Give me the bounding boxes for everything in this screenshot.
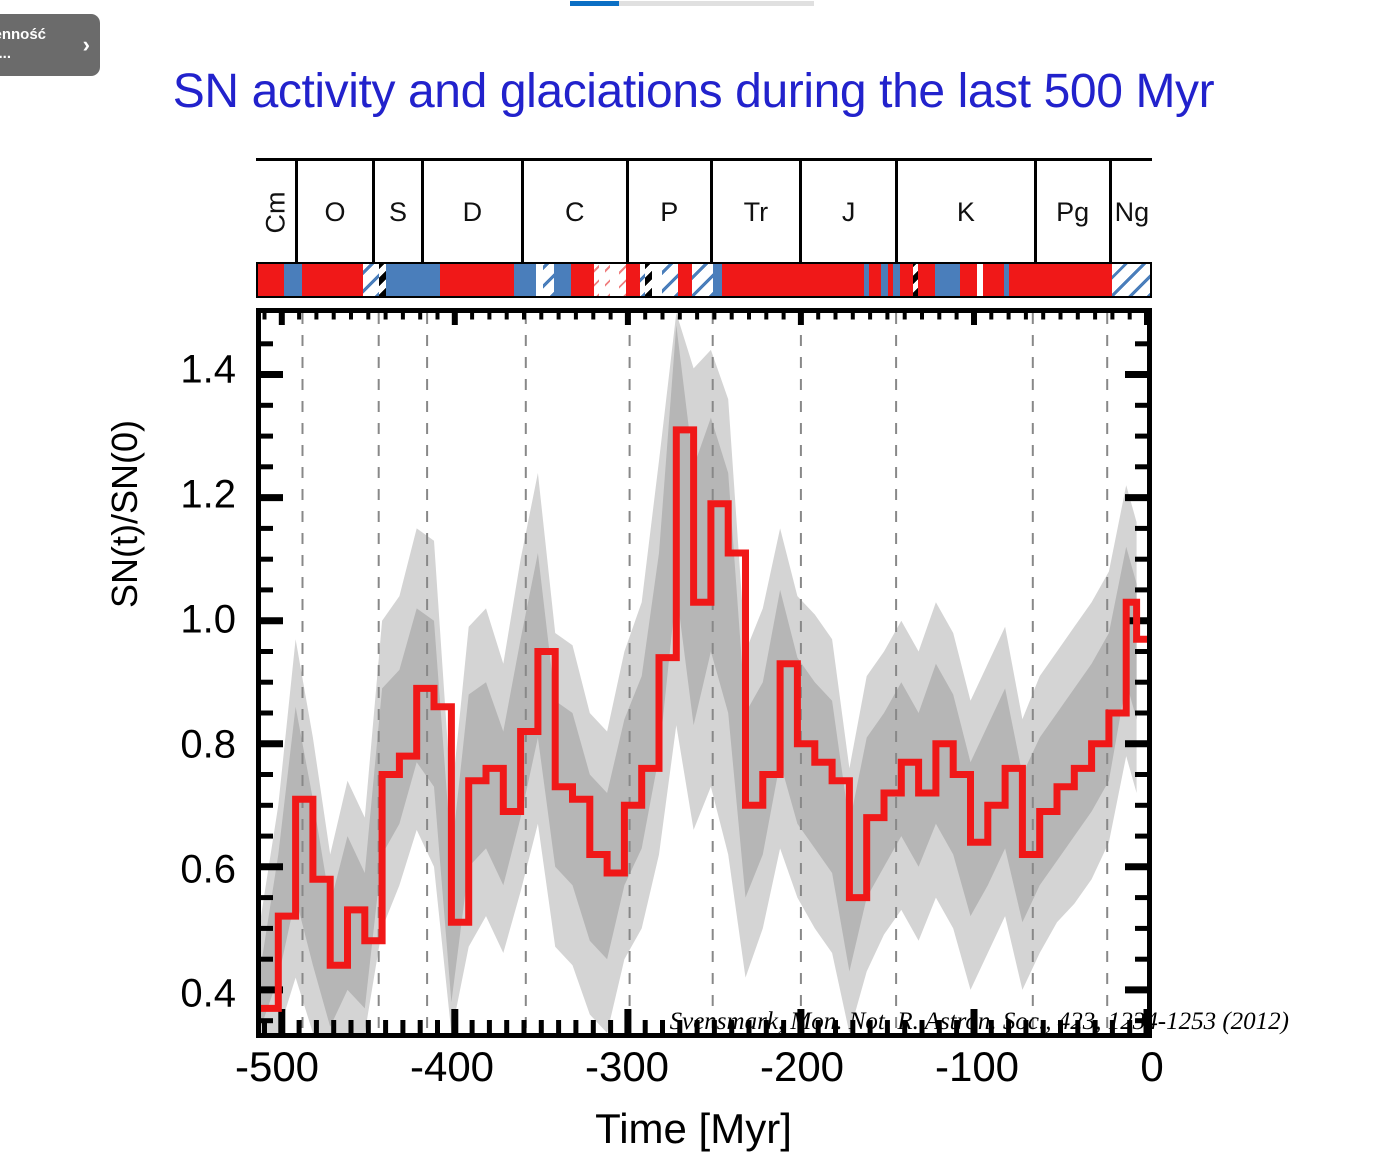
climate-segment-blue <box>284 264 302 296</box>
page-progress-bar[interactable] <box>570 1 814 6</box>
period-label: Pg <box>1056 197 1089 228</box>
period-label: S <box>389 197 407 228</box>
period-cell-pg: Pg <box>1037 161 1112 264</box>
climate-segment-blue <box>893 264 900 296</box>
climate-segment-red <box>678 264 692 296</box>
climate-segment-white <box>536 264 543 296</box>
climate-segment-red <box>900 264 912 296</box>
climate-segment-red <box>440 264 514 296</box>
period-cell-k: K <box>898 161 1036 264</box>
climate-segment-red <box>571 264 594 296</box>
figure-citation: Svensmark, Mon. Not. R. Astron. Soc., 42… <box>670 1008 1289 1036</box>
period-label: Tr <box>744 197 768 228</box>
x-tick-label: -400 <box>410 1043 494 1091</box>
y-tick-label: 1.0 <box>180 597 236 642</box>
period-label: C <box>565 197 585 228</box>
geologic-period-strip: CmOSDCPTrJKPgNg <box>256 158 1152 261</box>
y-axis-title: SN(t)/SN(0) <box>104 420 146 608</box>
climate-segment-hatch-black <box>1151 264 1153 296</box>
y-tick-label: 0.4 <box>180 972 236 1017</box>
figure-sn-activity-glaciations: CmOSDCPTrJKPgNg 0.40.60.81.01.21.4 -500-… <box>0 150 1387 1020</box>
climate-segment-hatch-blue <box>692 264 713 296</box>
climate-segment-hatch-red <box>619 264 626 296</box>
period-label: K <box>957 197 975 228</box>
x-tick-label: 0 <box>1140 1043 1163 1091</box>
climate-segment-hatch-blue <box>1112 264 1151 296</box>
nav-tooltip-line1: mienność <box>0 26 77 45</box>
x-tick-label: -300 <box>585 1043 669 1091</box>
period-cell-d: D <box>424 161 524 264</box>
x-tick-label: -100 <box>935 1043 1019 1091</box>
period-label: P <box>660 197 678 228</box>
climate-segment-white <box>652 264 663 296</box>
climate-segment-red <box>869 264 881 296</box>
climate-segment-red <box>722 264 864 296</box>
page-title: SN activity and glaciations during the l… <box>0 64 1387 119</box>
climate-segment-blue <box>935 264 960 296</box>
period-cell-c: C <box>524 161 629 264</box>
climate-segment-hatch-black <box>645 264 652 296</box>
period-label: O <box>324 197 345 228</box>
climate-segment-blue <box>713 264 722 296</box>
y-tick-label: 0.8 <box>180 722 236 767</box>
period-cell-tr: Tr <box>713 161 802 264</box>
nav-tooltip-text: mienność ry i... <box>0 26 77 64</box>
climate-segment-red <box>983 264 1004 296</box>
period-label: J <box>842 197 856 228</box>
period-cell-j: J <box>802 161 898 264</box>
climate-segment-blue <box>554 264 572 296</box>
climate-segment-white <box>610 264 619 296</box>
period-label: Ng <box>1115 197 1150 228</box>
climate-segment-blue <box>881 264 888 296</box>
x-axis-title: Time [Myr] <box>0 1105 1387 1153</box>
climate-segment-blue <box>514 264 537 296</box>
y-tick-label: 1.2 <box>180 473 236 518</box>
climate-segment-red <box>918 264 936 296</box>
x-tick-label: -200 <box>760 1043 844 1091</box>
page-progress-fill <box>570 1 619 6</box>
x-axis-tick-labels: -500-400-300-200-1000 <box>0 1043 1387 1103</box>
climate-segment-red <box>960 264 978 296</box>
period-label: D <box>463 197 483 228</box>
climate-segment-hatch-black <box>379 264 386 296</box>
period-cell-cm: Cm <box>256 161 298 264</box>
y-tick-label: 1.4 <box>180 348 236 393</box>
period-cell-ng: Ng <box>1112 161 1152 264</box>
period-label: Cm <box>260 192 291 234</box>
nav-tooltip-line2: ry i... <box>0 45 77 64</box>
period-cell-o: O <box>298 161 375 264</box>
plot-svg <box>261 313 1147 1033</box>
climate-segment-red <box>626 264 640 296</box>
period-cell-s: S <box>375 161 424 264</box>
climate-polarity-bar <box>256 262 1152 298</box>
y-tick-label: 0.6 <box>180 847 236 892</box>
x-tick-label: -500 <box>235 1043 319 1091</box>
climate-segment-blue <box>386 264 440 296</box>
chevron-right-icon[interactable]: › <box>77 32 90 58</box>
y-axis-tick-labels: 0.40.60.81.01.21.4 <box>0 308 250 1038</box>
climate-segment-hatch-blue <box>543 264 554 296</box>
climate-segment-red <box>302 264 363 296</box>
climate-segment-red <box>1009 264 1112 296</box>
climate-segment-red <box>258 264 284 296</box>
climate-segment-hatch-blue <box>662 264 678 296</box>
climate-segment-hatch-blue <box>363 264 379 296</box>
period-cell-p: P <box>629 161 713 264</box>
plot-area <box>256 308 1152 1038</box>
